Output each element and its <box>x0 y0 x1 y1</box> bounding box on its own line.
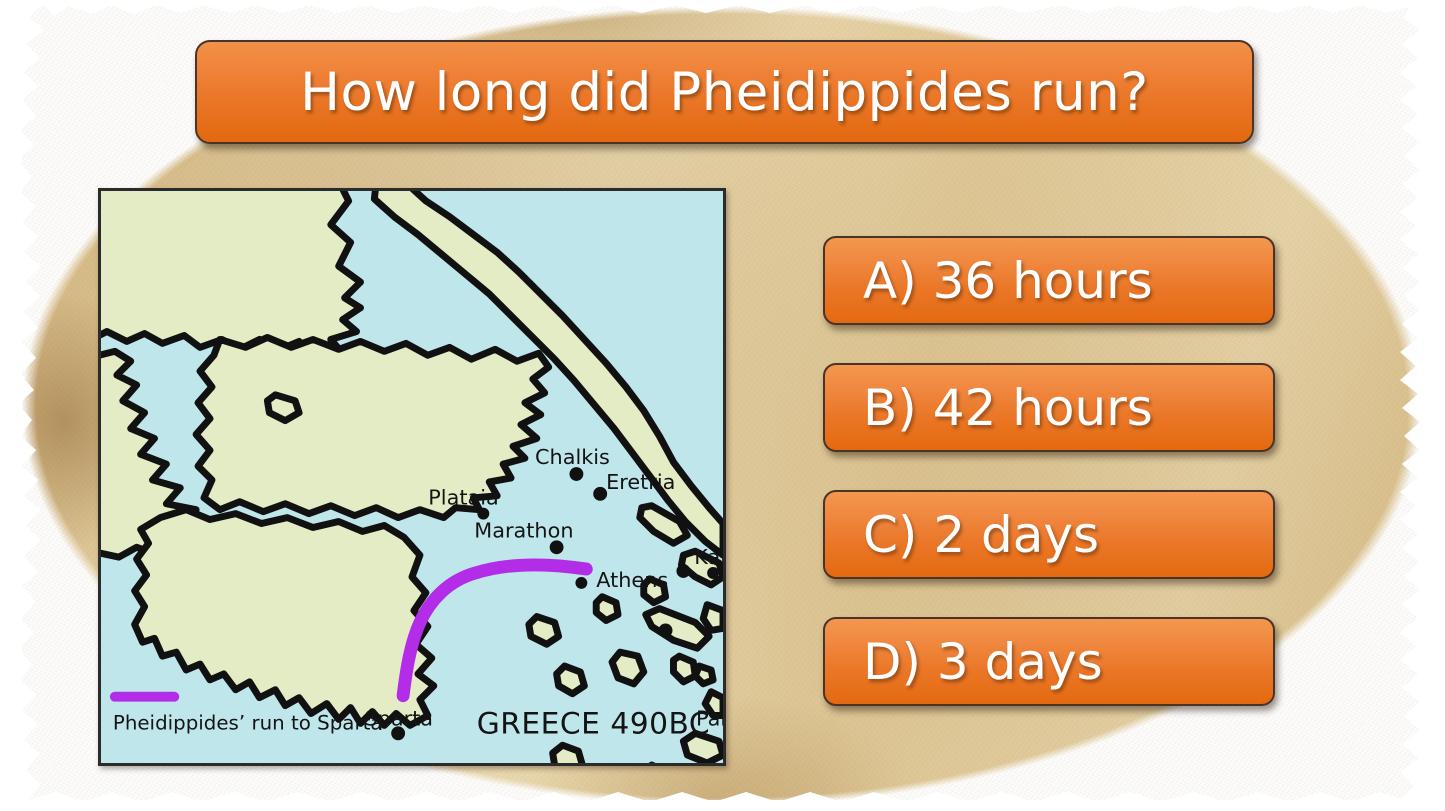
map-label-karystos: Karystos <box>694 545 723 569</box>
island-mykonos <box>673 656 695 682</box>
page-title: How long did Pheidippides run? <box>300 62 1149 123</box>
island-small-a <box>695 666 713 684</box>
island-kythnos <box>557 666 585 694</box>
island-west-small <box>267 395 299 421</box>
island-siphnos <box>553 745 583 763</box>
city-dot-eretria <box>593 487 607 501</box>
title-banner: How long did Pheidippides run? <box>195 40 1254 144</box>
city-dot-karystos <box>676 564 690 578</box>
greece-map: Chalkis Eretria Plataia Marathon Athens … <box>98 188 726 766</box>
island-edge-east <box>703 605 723 631</box>
answer-option-b[interactable]: B) 42 hours <box>823 363 1275 452</box>
island-kea <box>529 617 559 645</box>
map-label-chalkis: Chalkis <box>535 445 610 469</box>
answer-option-a-label: A) 36 hours <box>863 252 1153 310</box>
city-dot-tenos <box>659 623 673 637</box>
island-small-b <box>596 597 618 621</box>
city-dot-athens <box>575 577 587 589</box>
answer-option-d[interactable]: D) 3 days <box>823 617 1275 706</box>
city-dot-chalkis <box>569 467 583 481</box>
map-label-marathon: Marathon <box>474 518 573 542</box>
answer-option-c-label: C) 2 days <box>863 506 1099 564</box>
map-label-athens: Athens <box>596 568 668 592</box>
island-syros <box>612 652 644 684</box>
legend-route-label: Pheidippides’ run to Sparta <box>113 711 383 734</box>
answer-option-a[interactable]: A) 36 hours <box>823 236 1275 325</box>
landmass-north-mainland <box>101 191 360 355</box>
city-dot-marathon <box>550 540 564 554</box>
answer-option-b-label: B) 42 hours <box>863 379 1153 437</box>
map-label-eretria: Eretria <box>606 470 675 494</box>
map-title: GREECE 490BC <box>477 706 710 741</box>
answer-option-d-label: D) 3 days <box>863 633 1103 691</box>
map-label-plataia: Plataia <box>428 486 498 510</box>
answer-option-c[interactable]: C) 2 days <box>823 490 1275 579</box>
map-canvas: Chalkis Eretria Plataia Marathon Athens … <box>101 191 723 763</box>
